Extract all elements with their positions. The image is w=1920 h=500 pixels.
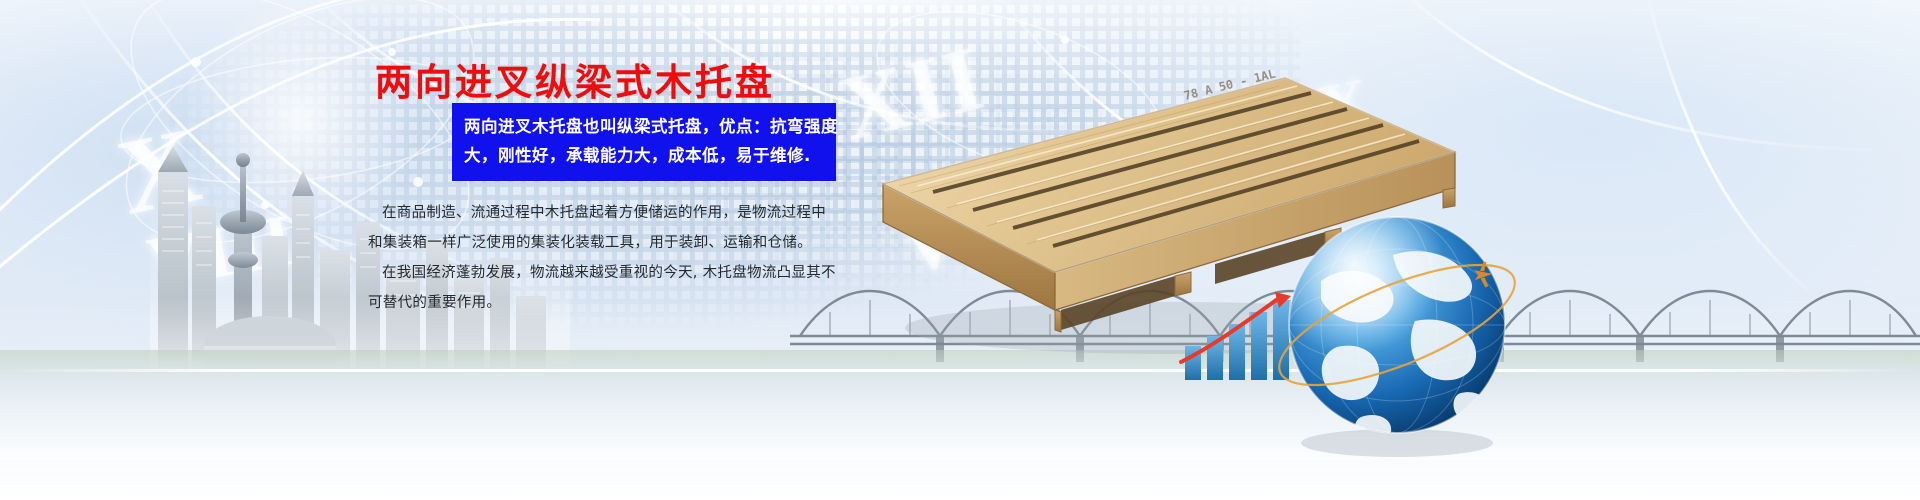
- description-line-4: 可替代的重要作用。: [368, 288, 860, 318]
- growth-bar-chart-graphic: [1175, 290, 1315, 380]
- wooden-pallet-photo: 78 A 50 - 1AL: [855, 60, 1475, 360]
- arch-bridge-illustration: [790, 270, 1920, 380]
- highlight-line-1: 两向进叉木托盘也叫纵梁式托盘，优点：抗弯强度: [464, 112, 826, 141]
- product-banner: X VIII XII VII IX: [0, 0, 1920, 500]
- roman-numeral-decoration: X: [108, 103, 212, 241]
- description-line-1: 在商品制造、流通过程中木托盘起着方便储运的作用，是物流过程中: [368, 198, 860, 228]
- background-wash-right: [820, 0, 1920, 430]
- roman-numeral-decoration: VII: [892, 178, 1034, 293]
- earth-globe-graphic: [1265, 195, 1530, 460]
- highlight-line-2: 大，刚性好，承载能力大，成本低，易于维修.: [464, 141, 826, 170]
- product-description: 在商品制造、流通过程中木托盘起着方便储运的作用，是物流过程中 和集装箱一样广泛使…: [368, 198, 860, 318]
- horizon-highlight-line: [0, 369, 1920, 372]
- highlight-callout-box: 两向进叉木托盘也叫纵梁式托盘，优点：抗弯强度 大，刚性好，承载能力大，成本低，易…: [452, 103, 836, 181]
- description-line-2: 和集装箱一样广泛使用的集装化装载工具，用于装卸、运输和仓储。: [368, 228, 860, 258]
- water-reflection-band: [0, 350, 1920, 460]
- network-arc-lines: [0, 0, 1920, 430]
- roman-numeral-decoration: VIII: [142, 198, 302, 307]
- svg-text:78 A 50 - 1AL: 78 A 50 - 1AL: [1182, 67, 1277, 103]
- description-line-3: 在我国经济蓬勃发展，物流越来越受重视的今天, 木托盘物流凸显其不: [368, 258, 860, 288]
- tree-band-illustration: [0, 282, 1920, 402]
- roman-numeral-decoration: XII: [829, 24, 994, 162]
- roman-numeral-decoration: IX: [1283, 62, 1380, 157]
- page-title: 两向进叉纵梁式木托盘: [375, 52, 775, 106]
